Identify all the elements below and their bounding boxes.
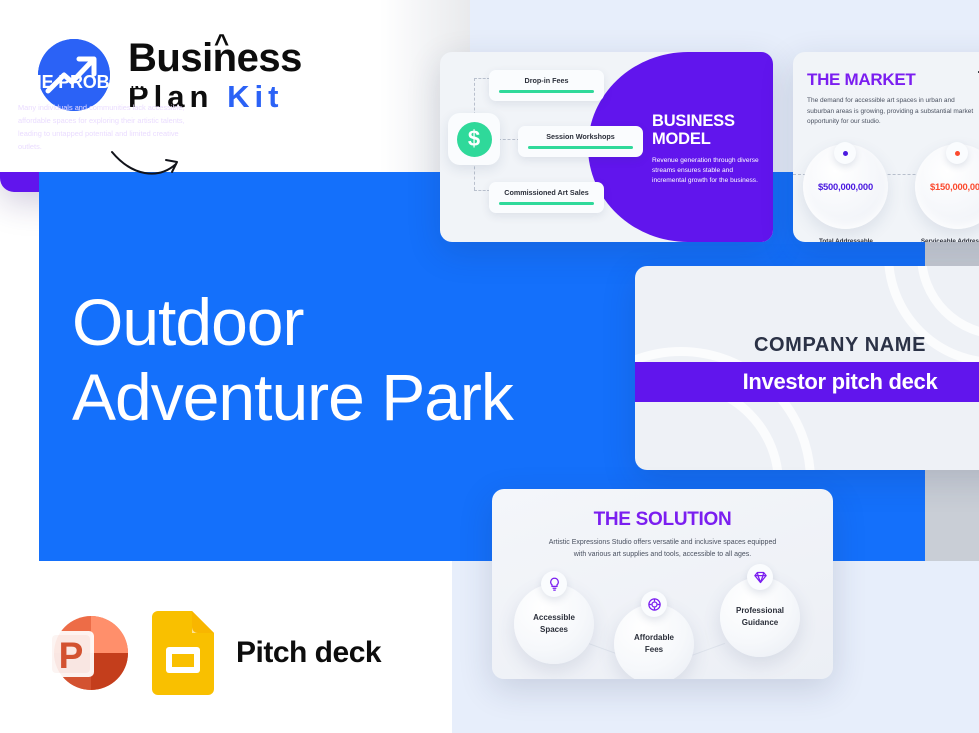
solution-body: Artistic Expressions Studio offers versa… — [542, 537, 783, 561]
connector-line — [474, 190, 490, 191]
revenue-stream-label: Drop-in Fees — [499, 76, 594, 85]
revenue-stream-label: Commissioned Art Sales — [499, 188, 594, 197]
microsoft-powerpoint-icon: P — [40, 608, 130, 698]
dollar-sign-icon: $ — [457, 122, 492, 157]
market-body: The demand for accessible art spaces in … — [807, 96, 975, 128]
brand-line-1: Business ^ — [128, 38, 302, 78]
business-model-body: Revenue generation through diverse strea… — [652, 156, 764, 187]
metric-value: $500,000,000 — [818, 181, 873, 192]
connector-line — [474, 78, 490, 79]
brand-wordmark: Business ^ Plan Kit — [128, 38, 302, 112]
svg-text:P: P — [59, 635, 84, 676]
revenue-stream-item[interactable]: Session Workshops — [518, 126, 643, 157]
revenue-stream-item[interactable]: Drop-in Fees — [489, 70, 604, 101]
metric-caption: Serviceable Addressable Market (SAM) — [903, 237, 979, 242]
investor-subtitle-band: Investor pitch deck — [635, 362, 979, 402]
slide-the-solution[interactable]: THE SOLUTION Artistic Expressions Studio… — [492, 489, 833, 679]
slide-the-market[interactable]: THE MARKET The demand for accessible art… — [793, 52, 979, 242]
slide-investor-pitch-deck[interactable]: COMPANY NAME Investor pitch deck — [635, 266, 979, 470]
connector-line — [498, 139, 520, 140]
metric-dot — [834, 142, 856, 164]
revenue-stream-bar — [528, 146, 633, 149]
google-slides-icon — [152, 611, 214, 695]
market-heading: THE MARKET — [807, 70, 915, 90]
poster-canvas: Business ^ Plan Kit Outdoor Adventure Pa… — [0, 0, 979, 733]
company-name: COMPANY NAME — [635, 334, 979, 357]
connector-line — [691, 643, 725, 656]
brand-circumflex: ^ — [214, 30, 229, 56]
investor-subtitle: Investor pitch deck — [743, 369, 938, 395]
brand-kit-text: Kit — [227, 79, 283, 114]
revenue-stream-bar — [499, 90, 594, 93]
revenue-stream-label: Session Workshops — [528, 132, 633, 141]
revenue-stream-bar — [499, 202, 594, 205]
metric-dot — [946, 142, 968, 164]
slide-business-model[interactable]: $ Drop-in Fees Session Workshops Commiss… — [440, 52, 773, 242]
target-circle-icon — [641, 591, 667, 617]
curved-arrow-icon — [110, 148, 180, 187]
lightbulb-icon — [541, 571, 567, 597]
page-title: Outdoor Adventure Park — [72, 285, 513, 435]
solution-heading: THE SOLUTION — [492, 509, 833, 531]
market-metric-sam: $150,000,000 — [915, 144, 979, 229]
format-badge-label: Pitch deck — [236, 636, 381, 670]
metric-value: $150,000,000 — [930, 181, 979, 192]
revenue-stream-item[interactable]: Commissioned Art Sales — [489, 182, 604, 213]
problem-body: Many individuals and communities lack ac… — [18, 102, 194, 154]
business-model-heading: BUSINESS MODEL — [652, 112, 772, 149]
metric-caption: Total Addressable Market (TAM) — [793, 237, 901, 242]
diamond-icon — [747, 564, 773, 590]
format-badges: P Pitch deck — [40, 608, 381, 698]
revenue-hub: $ — [448, 113, 500, 165]
problem-heading: THE PROBLEM — [18, 72, 147, 93]
market-metric-tam: $500,000,000 — [803, 144, 888, 229]
